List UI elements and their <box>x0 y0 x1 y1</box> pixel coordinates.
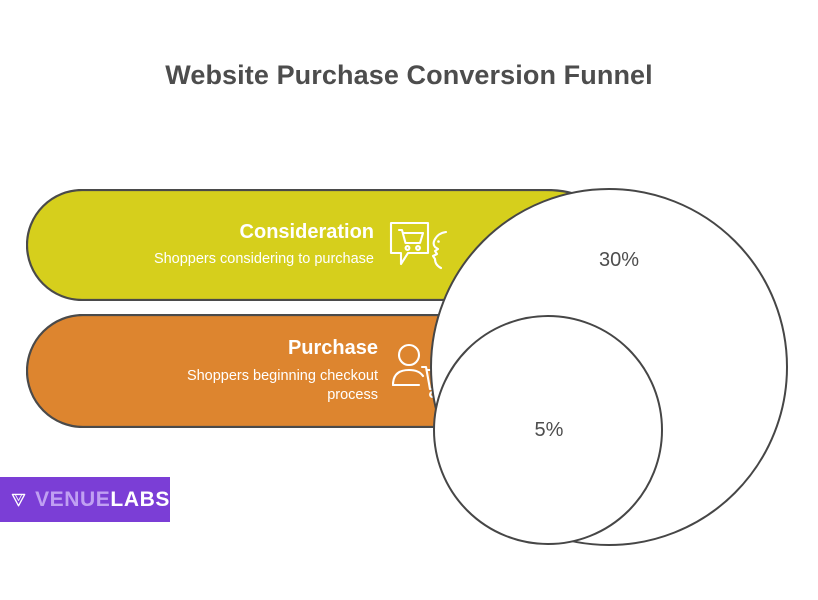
stage-content-consideration: Consideration Shoppers considering to pu… <box>26 189 450 301</box>
stage-description-consideration: Shoppers considering to purchase <box>154 250 374 270</box>
stage-description-purchase-line1: Shoppers beginning checkout <box>187 367 378 387</box>
brand-logo[interactable]: VENUELABS <box>0 477 170 522</box>
brand-name-primary: VENUE <box>35 488 110 511</box>
measure-value-consideration: 30% <box>530 249 708 272</box>
funnel-chart-canvas: Website Purchase Conversion Funnel Consi… <box>0 0 818 600</box>
cart-speech-bubble-face-icon <box>388 216 450 274</box>
brand-name-secondary: LABS <box>110 488 170 511</box>
stage-label-consideration: Consideration <box>240 220 374 244</box>
stage-content-purchase: Purchase Shoppers beginning checkout pro… <box>26 314 450 428</box>
measure-value-purchase: 5% <box>460 419 638 442</box>
brand-wordmark: VENUELABS <box>35 489 170 510</box>
stage-text-consideration: Consideration Shoppers considering to pu… <box>154 220 374 270</box>
chart-title: Website Purchase Conversion Funnel <box>0 60 818 91</box>
stage-description-purchase-line2: process <box>187 386 378 406</box>
chevron-v-icon <box>11 487 26 513</box>
stage-description-purchase: Shoppers beginning checkout process <box>187 367 378 406</box>
stage-text-purchase: Purchase Shoppers beginning checkout pro… <box>187 336 378 406</box>
stage-label-purchase: Purchase <box>288 336 378 360</box>
